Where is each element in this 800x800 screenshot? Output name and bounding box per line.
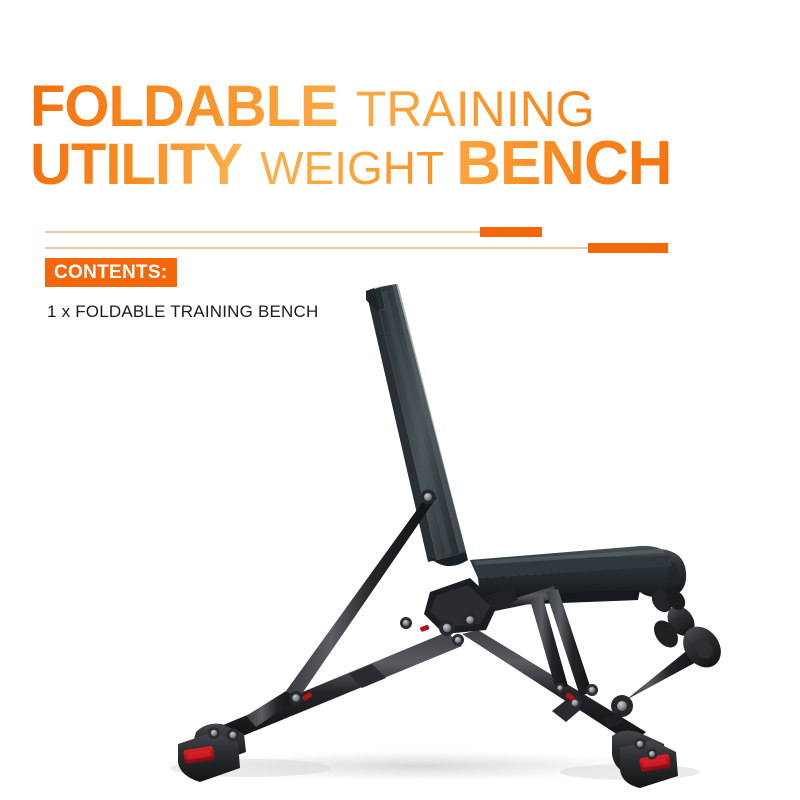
title-word-training: TRAINING [356,86,595,132]
contents-badge: CONTENTS: [45,258,177,287]
divider-lower-line [45,247,588,249]
title-word-foldable: FOLDABLE [30,80,338,133]
bench-pivot-bracket [424,578,518,634]
title-word-utility: UTILITY [30,138,242,191]
divider-upper-accent [480,227,542,237]
bench-front-foot [178,724,246,782]
bench-rear-strut [246,497,437,727]
contents-item: 1 x FOLDABLE TRAINING BENCH [47,302,318,322]
title-line-2: UTILITYWEIGHTBENCH [30,135,770,192]
title-word-bench: BENCH [456,135,671,192]
product-banner: FOLDABLETRAINING UTILITYWEIGHTBENCH CONT… [0,0,800,800]
bench-base-frame [216,630,646,744]
divider-upper-line [45,231,480,233]
divider-lower-accent [588,243,668,253]
bench-hardware-bolts [208,490,658,760]
page-title: FOLDABLETRAINING UTILITYWEIGHTBENCH [30,80,770,192]
bench-rear-foot [612,731,678,788]
bench-backrest-pad [366,284,468,566]
title-word-weight: WEIGHT [260,147,444,189]
title-line-1: FOLDABLETRAINING [30,80,770,133]
bench-foam-rollers [611,586,729,717]
bench-seat-support [452,584,592,696]
product-floor-shadow [170,749,700,783]
bench-seat-pad [470,546,686,606]
